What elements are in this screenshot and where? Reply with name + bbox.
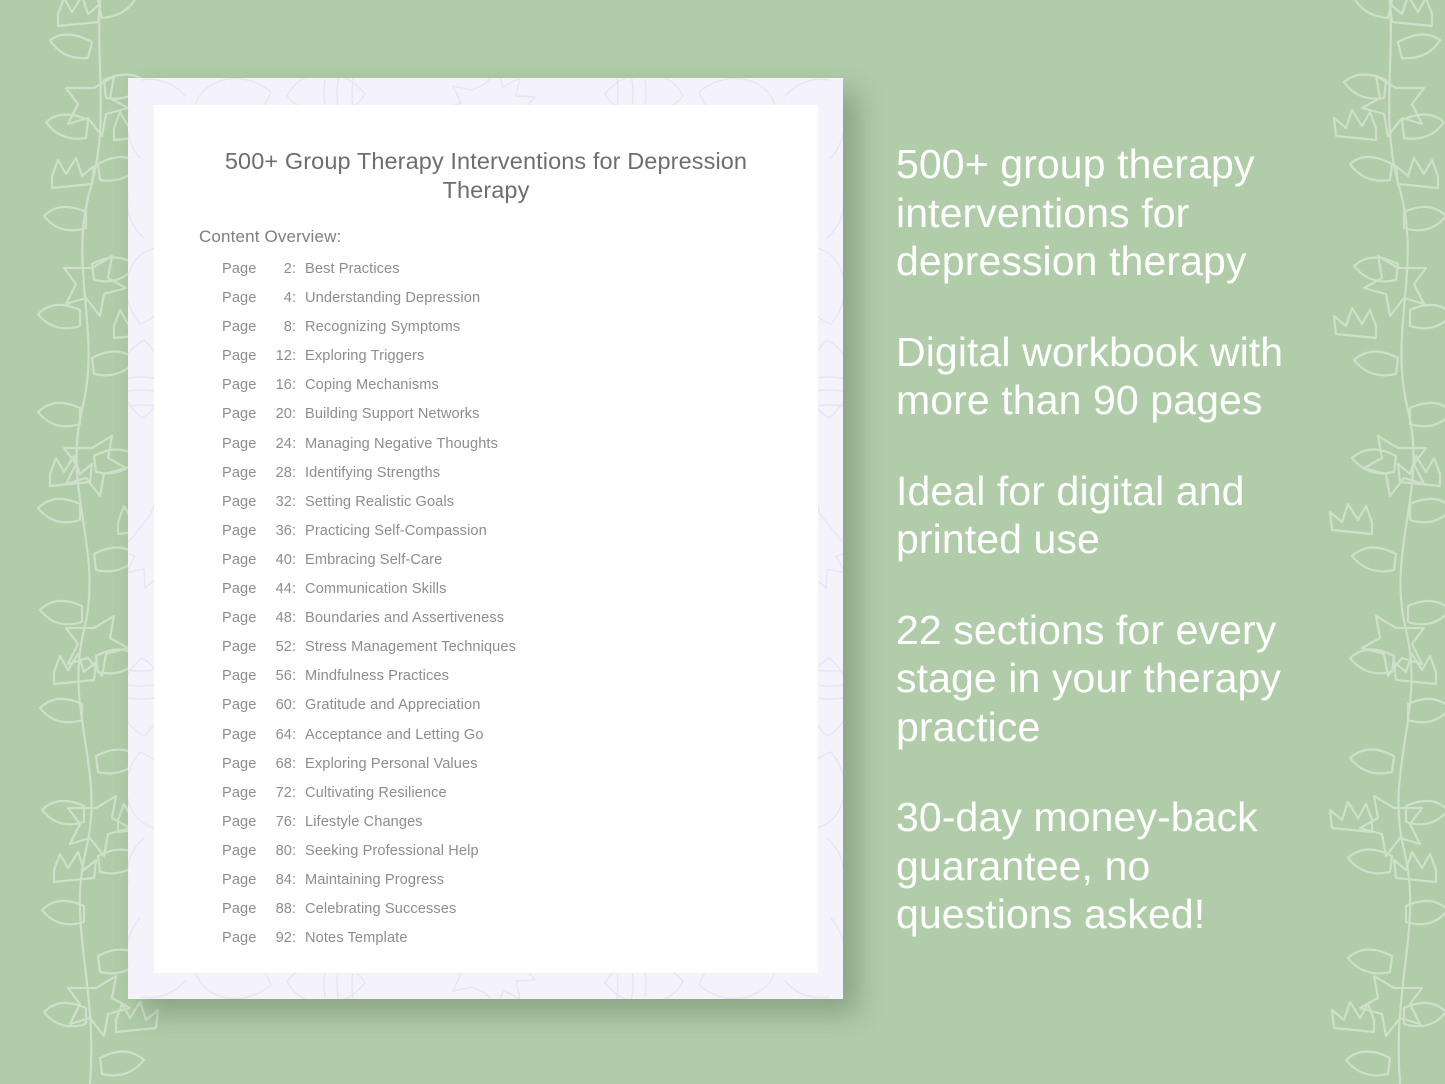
toc-colon: :	[292, 814, 305, 830]
toc-topic: Acceptance and Letting Go	[305, 727, 484, 743]
toc-row: Page 12 : Exploring Triggers	[222, 348, 792, 377]
toc-page-number: 28	[262, 465, 292, 481]
promo-line-5: 30-day money-back guarantee, no question…	[896, 793, 1326, 939]
toc-page-number: 60	[262, 697, 292, 713]
toc-topic: Gratitude and Appreciation	[305, 697, 480, 713]
toc-page-word: Page	[222, 930, 262, 946]
toc-topic: Coping Mechanisms	[305, 377, 439, 393]
toc-topic: Exploring Personal Values	[305, 756, 478, 772]
toc-page-word: Page	[222, 697, 262, 713]
toc-row: Page 20 : Building Support Networks	[222, 406, 792, 435]
toc-page-number: 56	[262, 668, 292, 684]
toc-page-number: 48	[262, 610, 292, 626]
toc-colon: :	[292, 261, 305, 277]
toc-page-number: 64	[262, 727, 292, 743]
toc-colon: :	[292, 785, 305, 801]
toc-topic: Communication Skills	[305, 581, 447, 597]
toc-topic: Boundaries and Assertiveness	[305, 610, 504, 626]
toc-row: Page 44 : Communication Skills	[222, 581, 792, 610]
toc-colon: :	[292, 872, 305, 888]
toc-page-word: Page	[222, 523, 262, 539]
table-of-contents: Page 2 : Best Practices Page 4 : Underst…	[222, 261, 792, 959]
toc-topic: Stress Management Techniques	[305, 639, 516, 655]
toc-page-number: 44	[262, 581, 292, 597]
toc-topic: Exploring Triggers	[305, 348, 424, 364]
toc-page-word: Page	[222, 377, 262, 393]
toc-row: Page 84 : Maintaining Progress	[222, 872, 792, 901]
toc-page-word: Page	[222, 785, 262, 801]
promo-line-3: Ideal for digital and printed use	[896, 467, 1326, 564]
page-title: 500+ Group Therapy Interventions for Dep…	[194, 147, 778, 205]
toc-colon: :	[292, 348, 305, 364]
toc-page-number: 12	[262, 348, 292, 364]
toc-page-word: Page	[222, 756, 262, 772]
toc-row: Page 36 : Practicing Self-Compassion	[222, 523, 792, 552]
toc-row: Page 16 : Coping Mechanisms	[222, 377, 792, 406]
toc-page-number: 40	[262, 552, 292, 568]
toc-row: Page 56 : Mindfulness Practices	[222, 668, 792, 697]
toc-colon: :	[292, 494, 305, 510]
toc-topic: Lifestyle Changes	[305, 814, 423, 830]
toc-colon: :	[292, 436, 305, 452]
promo-line-2: Digital workbook with more than 90 pages	[896, 328, 1326, 425]
toc-page-word: Page	[222, 436, 262, 452]
toc-page-number: 76	[262, 814, 292, 830]
toc-colon: :	[292, 901, 305, 917]
toc-row: Page 76 : Lifestyle Changes	[222, 814, 792, 843]
document-preview-card: 500+ Group Therapy Interventions for Dep…	[128, 78, 843, 999]
toc-row: Page 88 : Celebrating Successes	[222, 901, 792, 930]
toc-page-word: Page	[222, 494, 262, 510]
toc-page-word: Page	[222, 406, 262, 422]
toc-row: Page 60 : Gratitude and Appreciation	[222, 697, 792, 726]
toc-colon: :	[292, 930, 305, 946]
toc-row: Page 48 : Boundaries and Assertiveness	[222, 610, 792, 639]
toc-colon: :	[292, 290, 305, 306]
toc-row: Page 32 : Setting Realistic Goals	[222, 494, 792, 523]
toc-page-word: Page	[222, 581, 262, 597]
toc-page-word: Page	[222, 843, 262, 859]
toc-topic: Celebrating Successes	[305, 901, 456, 917]
toc-row: Page 24 : Managing Negative Thoughts	[222, 436, 792, 465]
toc-page-word: Page	[222, 465, 262, 481]
toc-page-number: 68	[262, 756, 292, 772]
toc-row: Page 64 : Acceptance and Letting Go	[222, 727, 792, 756]
toc-page-number: 92	[262, 930, 292, 946]
toc-colon: :	[292, 377, 305, 393]
toc-colon: :	[292, 639, 305, 655]
toc-topic: Notes Template	[305, 930, 408, 946]
toc-row: Page 52 : Stress Management Techniques	[222, 639, 792, 668]
toc-page-word: Page	[222, 348, 262, 364]
toc-topic: Understanding Depression	[305, 290, 480, 306]
toc-page-number: 32	[262, 494, 292, 510]
toc-page-word: Page	[222, 319, 262, 335]
toc-row: Page 2 : Best Practices	[222, 261, 792, 290]
toc-page-word: Page	[222, 261, 262, 277]
toc-page-word: Page	[222, 290, 262, 306]
toc-colon: :	[292, 668, 305, 684]
toc-page-word: Page	[222, 814, 262, 830]
promo-graphic-canvas: 500+ Group Therapy Interventions for Dep…	[0, 0, 1445, 1084]
toc-page-word: Page	[222, 872, 262, 888]
toc-page-number: 36	[262, 523, 292, 539]
toc-page-number: 84	[262, 872, 292, 888]
toc-colon: :	[292, 610, 305, 626]
toc-colon: :	[292, 552, 305, 568]
toc-page-number: 24	[262, 436, 292, 452]
document-page: 500+ Group Therapy Interventions for Dep…	[154, 105, 818, 973]
floral-vine-right-icon	[1322, 0, 1445, 1084]
toc-row: Page 4 : Understanding Depression	[222, 290, 792, 319]
toc-row: Page 72 : Cultivating Resilience	[222, 785, 792, 814]
toc-colon: :	[292, 756, 305, 772]
content-overview-label: Content Overview:	[199, 227, 341, 247]
toc-colon: :	[292, 843, 305, 859]
toc-colon: :	[292, 406, 305, 422]
toc-colon: :	[292, 581, 305, 597]
toc-topic: Cultivating Resilience	[305, 785, 447, 801]
promo-line-1: 500+ group therapy interventions for dep…	[896, 140, 1326, 286]
toc-colon: :	[292, 727, 305, 743]
toc-page-word: Page	[222, 901, 262, 917]
toc-page-number: 72	[262, 785, 292, 801]
toc-colon: :	[292, 319, 305, 335]
toc-page-word: Page	[222, 610, 262, 626]
toc-page-number: 16	[262, 377, 292, 393]
toc-row: Page 8 : Recognizing Symptoms	[222, 319, 792, 348]
toc-row: Page 92 : Notes Template	[222, 930, 792, 959]
toc-row: Page 80 : Seeking Professional Help	[222, 843, 792, 872]
toc-page-number: 80	[262, 843, 292, 859]
toc-row: Page 28 : Identifying Strengths	[222, 465, 792, 494]
toc-topic: Recognizing Symptoms	[305, 319, 460, 335]
toc-topic: Managing Negative Thoughts	[305, 436, 498, 452]
toc-topic: Mindfulness Practices	[305, 668, 449, 684]
toc-page-word: Page	[222, 727, 262, 743]
toc-topic: Building Support Networks	[305, 406, 479, 422]
toc-colon: :	[292, 523, 305, 539]
toc-topic: Setting Realistic Goals	[305, 494, 454, 510]
toc-topic: Maintaining Progress	[305, 872, 444, 888]
toc-topic: Embracing Self-Care	[305, 552, 442, 568]
toc-colon: :	[292, 465, 305, 481]
toc-page-word: Page	[222, 668, 262, 684]
toc-page-number: 2	[262, 261, 292, 277]
toc-topic: Practicing Self-Compassion	[305, 523, 487, 539]
toc-row: Page 40 : Embracing Self-Care	[222, 552, 792, 581]
toc-page-number: 8	[262, 319, 292, 335]
toc-topic: Seeking Professional Help	[305, 843, 479, 859]
toc-colon: :	[292, 697, 305, 713]
toc-topic: Best Practices	[305, 261, 400, 277]
toc-row: Page 68 : Exploring Personal Values	[222, 756, 792, 785]
toc-page-word: Page	[222, 552, 262, 568]
toc-page-number: 4	[262, 290, 292, 306]
toc-topic: Identifying Strengths	[305, 465, 440, 481]
promo-text-column: 500+ group therapy interventions for dep…	[896, 140, 1326, 939]
toc-page-number: 52	[262, 639, 292, 655]
toc-page-number: 88	[262, 901, 292, 917]
toc-page-word: Page	[222, 639, 262, 655]
toc-page-number: 20	[262, 406, 292, 422]
promo-line-4: 22 sections for every stage in your ther…	[896, 606, 1326, 752]
